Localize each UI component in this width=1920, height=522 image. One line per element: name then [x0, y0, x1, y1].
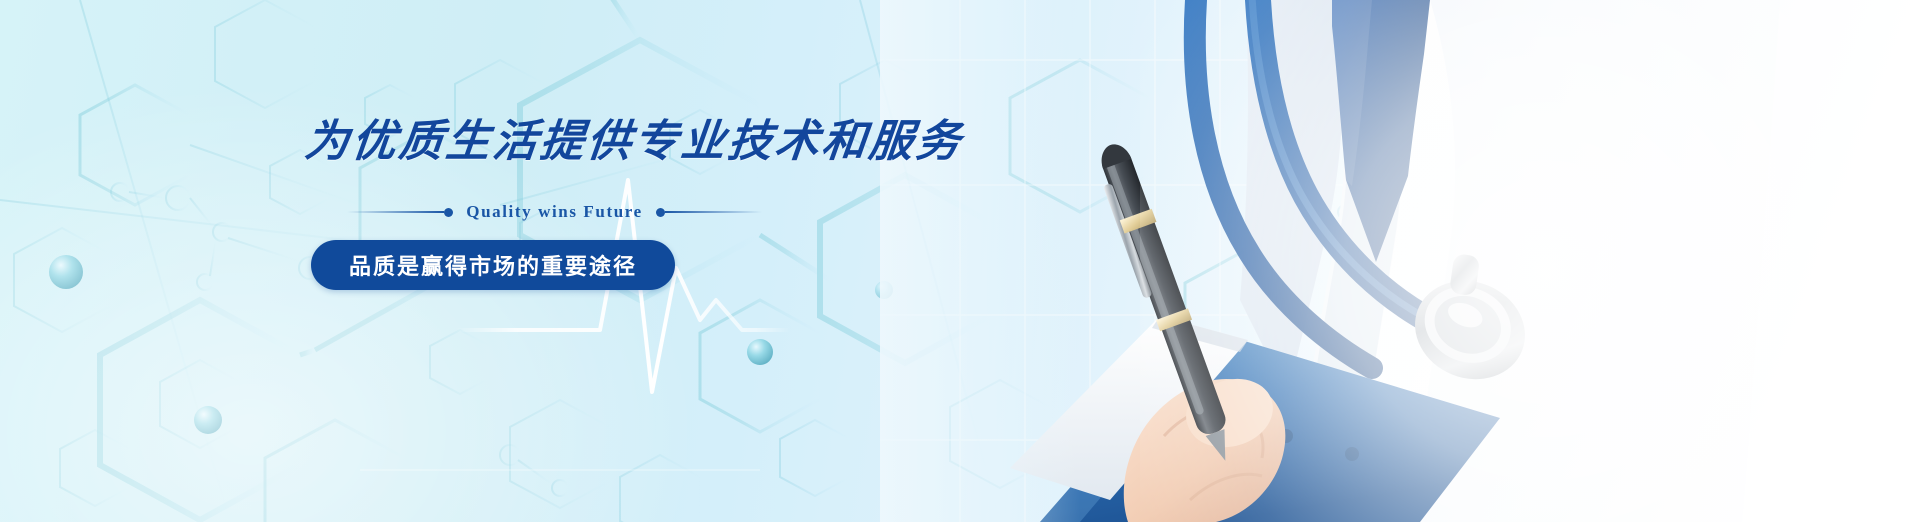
hero-banner: 为优质生活提供专业技术和服务 Quality wins Future 品质是赢得…: [0, 0, 1920, 522]
tagline-row: Quality wins Future: [347, 202, 762, 222]
tagline-rule-right: [665, 211, 762, 213]
tagline-english: Quality wins Future: [453, 202, 656, 222]
light-glow-right: [1140, 0, 1920, 522]
slogan-pill[interactable]: 品质是赢得市场的重要途径: [311, 240, 675, 290]
tagline-dot-left: [444, 208, 453, 217]
page-title: 为优质生活提供专业技术和服务: [303, 120, 1028, 164]
banner-content: 为优质生活提供专业技术和服务 Quality wins Future 品质是赢得…: [305, 120, 1025, 290]
tagline-dot-right: [656, 208, 665, 217]
tagline-rule-left: [347, 211, 444, 213]
